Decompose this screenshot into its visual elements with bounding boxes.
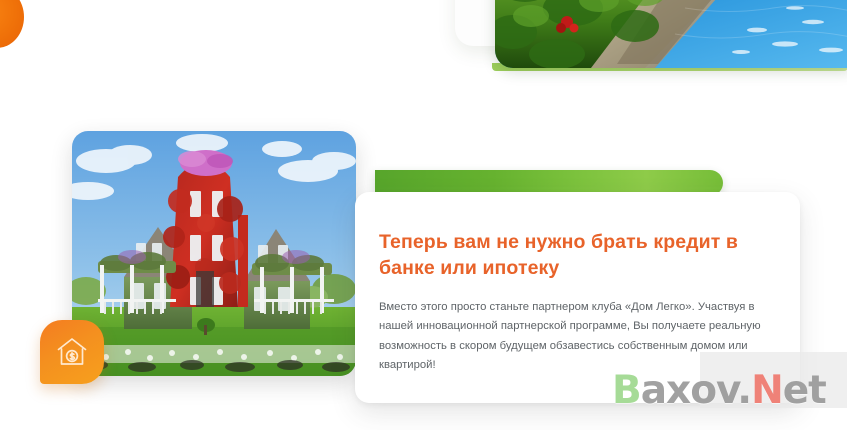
watermark-part-axov: axov. xyxy=(641,368,751,413)
watermark-part-b: B xyxy=(612,368,641,413)
promo-headline: Теперь вам не нужно брать кредит в банке… xyxy=(379,230,764,282)
pond-photo-artwork xyxy=(495,0,847,68)
orange-circle-decoration xyxy=(0,0,24,48)
flower-house-photo xyxy=(72,131,356,376)
page-canvas: Теперь вам не нужно брать кредит в банке… xyxy=(0,0,847,430)
watermark-part-n: N xyxy=(751,368,783,413)
house-photo-artwork xyxy=(72,131,356,376)
site-watermark: Baxov.Net xyxy=(612,371,826,410)
house-with-coin-icon xyxy=(55,336,89,368)
pond-garden-photo xyxy=(495,0,847,68)
house-badge[interactable] xyxy=(40,320,104,384)
watermark-part-et: et xyxy=(783,368,826,413)
